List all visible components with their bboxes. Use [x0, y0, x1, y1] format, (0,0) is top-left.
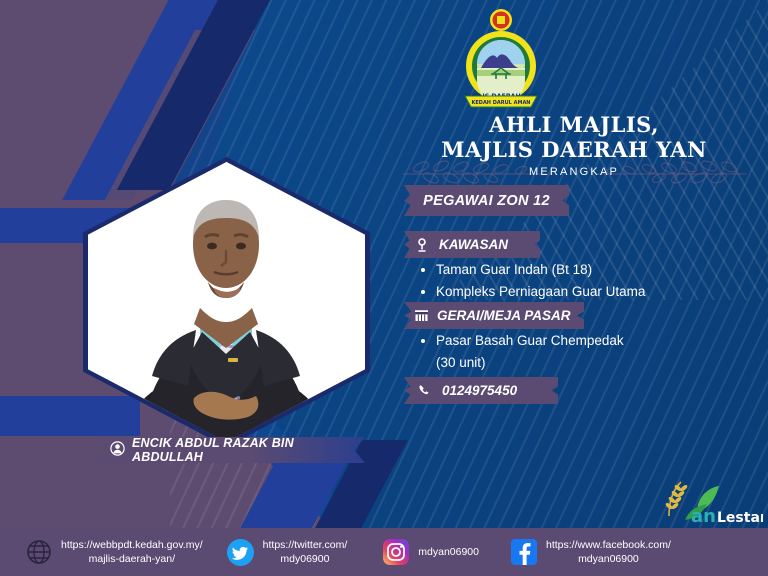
- yanlestari-logo: an Lestari: [655, 476, 763, 528]
- footer-link-twitter[interactable]: https://twitter.com/ mdy06900: [227, 538, 348, 566]
- gerai-label: GERAI/MEJA PASAR: [437, 308, 571, 323]
- majlis-daerah-yan-logo: MAJLIS DAERAH YAN KEDAH DARUL AMAN: [455, 8, 547, 112]
- footer-instagram-text: mdyan06900: [418, 545, 479, 559]
- person-name-text: ENCIK ABDUL RAZAK BIN ABDULLAH: [132, 436, 365, 464]
- list-item: Kompleks Perniagaan Guar Utama: [418, 281, 645, 303]
- footer-bar: https://webbpdt.kedah.gov.my/ majlis-dae…: [0, 528, 768, 576]
- poster-canvas: MAJLIS DAERAH YAN KEDAH DARUL AMAN AHLI …: [0, 0, 768, 576]
- poster-headline: AHLI MAJLIS, MAJLIS DAERAH YAN: [380, 112, 768, 162]
- list-item: Taman Guar Indah (Bt 18): [418, 259, 645, 281]
- kawasan-ribbon: KAWASAN: [404, 231, 540, 258]
- position-title-ribbon: PEGAWAI ZON 12: [404, 185, 569, 216]
- gerai-list: Pasar Basah Guar Chempedak (30 unit): [418, 330, 624, 374]
- footer-website-text: https://webbpdt.kedah.gov.my/ majlis-dae…: [61, 538, 203, 566]
- list-item: Pasar Basah Guar Chempedak: [418, 330, 624, 352]
- footer-link-facebook[interactable]: https://www.facebook.com/ mdyan06900: [511, 538, 671, 566]
- footer-twitter-text: https://twitter.com/ mdy06900: [263, 538, 348, 566]
- decor-bar-left-lower: [0, 396, 140, 436]
- location-pin-icon: [416, 238, 428, 252]
- list-item-note: (30 unit): [418, 352, 624, 374]
- instagram-icon: [383, 539, 409, 565]
- svg-text:KEDAH DARUL AMAN: KEDAH DARUL AMAN: [472, 100, 531, 106]
- facebook-icon: [511, 539, 537, 565]
- gerai-ribbon: GERAI/MEJA PASAR: [404, 302, 584, 329]
- footer-facebook-text: https://www.facebook.com/ mdyan06900: [546, 538, 671, 566]
- market-stall-icon: [414, 308, 429, 323]
- svg-text:an: an: [691, 506, 716, 527]
- kawasan-list: Taman Guar Indah (Bt 18) Kompleks Pernia…: [418, 259, 645, 303]
- telephone-number: 0124975450: [442, 383, 517, 398]
- headline-line-1: AHLI MAJLIS,: [380, 112, 768, 137]
- twitter-icon: [227, 539, 254, 566]
- globe-icon: [26, 539, 52, 565]
- footer-link-website[interactable]: https://webbpdt.kedah.gov.my/ majlis-dae…: [26, 538, 203, 566]
- person-name-badge: ENCIK ABDUL RAZAK BIN ABDULLAH: [96, 437, 365, 463]
- footer-link-instagram[interactable]: mdyan06900: [383, 539, 479, 565]
- position-title-text: PEGAWAI ZON 12: [423, 193, 550, 209]
- merangkap-label: MERANGKAP: [380, 166, 768, 178]
- svg-text:Lestari: Lestari: [717, 510, 763, 526]
- user-avatar-icon: [110, 441, 125, 459]
- kawasan-label: KAWASAN: [439, 237, 508, 252]
- phone-icon: [418, 384, 431, 397]
- telephone-ribbon: 0124975450: [404, 377, 558, 404]
